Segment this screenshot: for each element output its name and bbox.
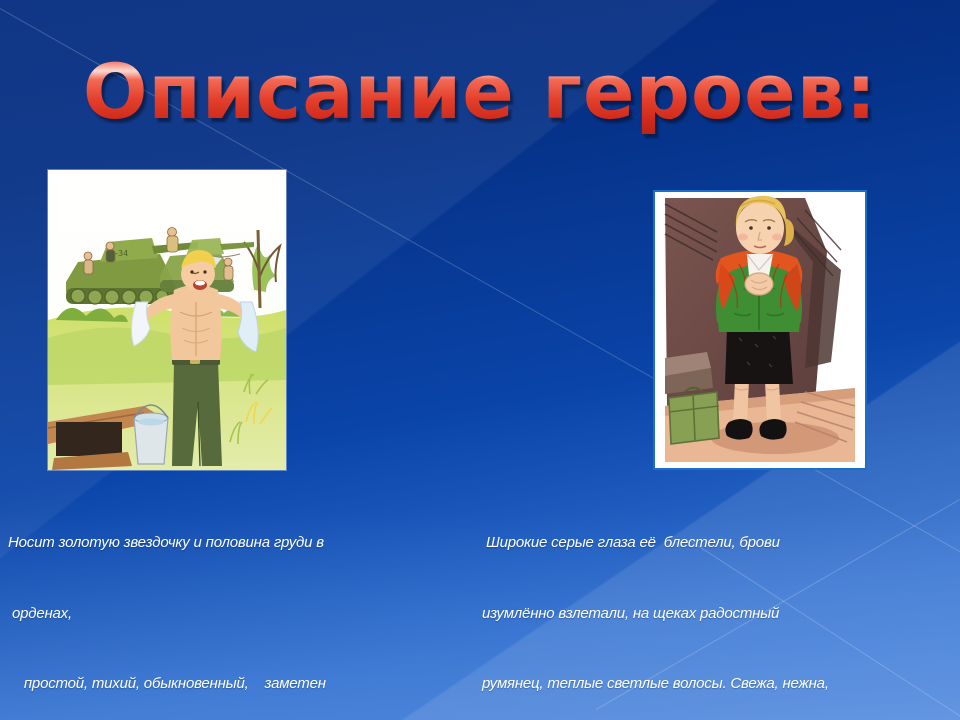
soldier-illustration: 3-34: [48, 170, 286, 470]
text-line: Носит золотую звездочку и половина груди…: [8, 531, 468, 555]
hero-female-description: Широкие серые глаза её блестели, брови и…: [482, 484, 952, 720]
text-line: орденах,: [8, 602, 468, 626]
text-line: Широкие серые глаза её блестели, брови: [482, 531, 952, 555]
hero-male-description: Носит золотую звездочку и половина груди…: [8, 484, 468, 720]
girl-illustration: [655, 192, 865, 468]
text-line: румянец, теплые светлые волосы. Свежа, н…: [482, 672, 952, 696]
text-line: изумлённо взлетали, на щеках радостный: [482, 602, 952, 626]
soldier-illustration-graphic: 3-34: [48, 170, 286, 470]
text-line: простой, тихий, обыкновенный, заметен: [8, 672, 468, 696]
presentation-slide: Описание героев:: [0, 0, 960, 720]
title-container: Описание героев:: [0, 48, 960, 136]
slide-title: Описание героев:: [83, 48, 877, 136]
girl-illustration-graphic: [655, 192, 865, 468]
